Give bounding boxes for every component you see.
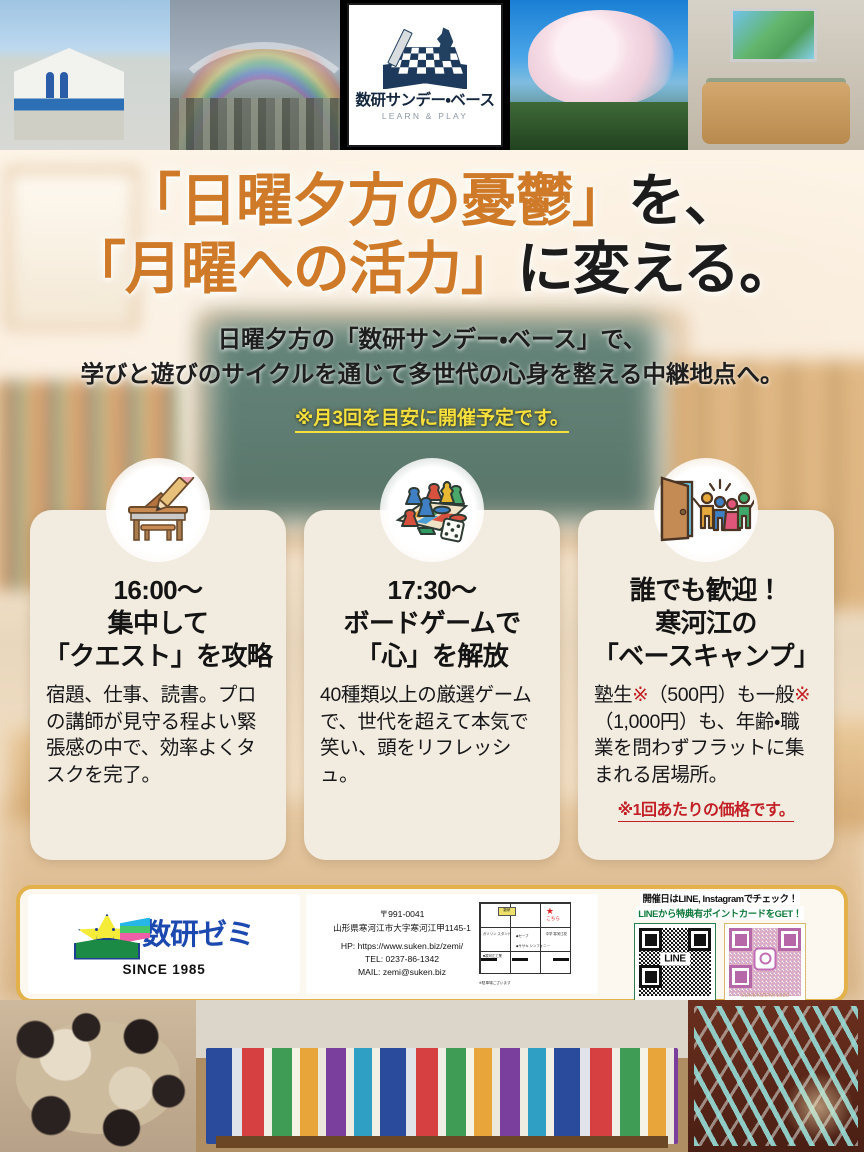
brand-logo-card: 数研サンデー・ベース LEARN & PLAY	[347, 3, 503, 147]
address-mail[interactable]: MAIL: zemi@suken.biz	[358, 967, 446, 977]
card-time-boardgame: 17:30～	[388, 575, 477, 605]
card-title-line1-quest: 集中して	[108, 608, 209, 638]
instagram-icon	[754, 947, 777, 970]
brand-logo-photo: 数研サンデー・ベース LEARN & PLAY	[340, 0, 510, 150]
game-board-closeup-photo	[688, 1000, 864, 1152]
qr-section: 開催日はLINE, Instagramでチェック！ LINEから特典有ポイントカ…	[604, 891, 836, 997]
qr-headline-primary: 開催日はLINE, Instagramでチェック！	[640, 891, 799, 905]
bottom-photo-strip	[0, 1000, 864, 1152]
footer-info-panel: 数研ゼミ SINCE 1985 〒991-0041 山形県寒河江市大字寒河江甲1…	[16, 885, 848, 1000]
card-body-part2: （500円）も一般	[648, 684, 794, 706]
card-body-mark2: ※	[794, 684, 810, 706]
map-landmark-1: ガソリン スタンド	[483, 933, 511, 937]
card-title-boardgame: 17:30～ ボードゲームで 「心」を解放	[316, 574, 548, 672]
hero-title-line1-quoted: 「日曜夕方の憂鬱」	[124, 169, 628, 233]
card-title-welcome: 誰でも歓迎！ 寒河江の 「ベースキャンプ」	[590, 574, 822, 672]
qr-headline-secondary: LINEから特典有ポイントカードをGET！	[636, 906, 803, 920]
zemi-brand-logo: 数研ゼミ SINCE 1985	[28, 894, 300, 994]
line-qr-label: LINE	[660, 952, 690, 965]
chess-book-pencil-icon	[379, 29, 471, 91]
map-here-label: こちら	[546, 916, 560, 922]
board-game-shelf-photo	[196, 1000, 688, 1152]
zemi-since-label: SINCE 1985	[122, 962, 205, 977]
card-title-line1-welcome: 寒河江の	[655, 608, 757, 638]
brand-logo-title: 数研サンデー・ベース	[356, 92, 495, 109]
card-title-line2-quest: 「クエスト」を攻略	[44, 641, 273, 671]
hero-title-line1-tail: を、	[628, 169, 740, 233]
program-cards: 16:00～ 集中して 「クエスト」を攻略 宿題、仕事、読書。プロの講師が見守る…	[0, 510, 864, 860]
card-title-line1-boardgame: ボードゲームで	[343, 608, 520, 638]
card-body-part1: 塾生	[594, 684, 632, 706]
card-title-line2-boardgame: 「心」を解放	[356, 641, 508, 671]
card-title-line2-welcome: 「ベースキャンプ」	[593, 641, 820, 671]
kids-playing-game-photo	[0, 1000, 196, 1152]
hero-schedule-note: ※月3回を目安に開催予定です。	[295, 403, 569, 433]
program-card-quest[interactable]: 16:00～ 集中して 「クエスト」を攻略 宿題、仕事、読書。プロの講師が見守る…	[30, 510, 286, 860]
rainbow-townscape-photo	[170, 0, 340, 150]
map-landmark-3: 中学 寒河江校	[546, 933, 567, 937]
zemi-brand-name: 数研ゼミ	[142, 921, 254, 950]
card-time-welcome: 誰でも歓迎！	[630, 575, 782, 605]
hero-subtitle: 日曜夕方の「数研サンデー・ベース」で、 学びと遊びのサイクルを通じて多世代の心身…	[0, 322, 864, 393]
top-photo-strip: 数研サンデー・ベース LEARN & PLAY	[0, 0, 864, 150]
instagram-handle: SUKENZEMI1985	[725, 993, 805, 999]
map-box-label: 数研	[498, 907, 516, 916]
cherry-blossom-photo	[510, 0, 688, 150]
map-landmark-2: ◆セーブ	[516, 935, 529, 939]
flyer-page: 数研サンデー・ベース LEARN & PLAY 「日曜夕方の憂鬱」を、 「月曜へ…	[0, 0, 864, 1152]
address-text: 〒991-0041 山形県寒河江市大字寒河江甲1145-1 HP: https:…	[333, 908, 471, 980]
open-door-people-icon	[654, 458, 758, 562]
school-desk-pencil-icon	[106, 458, 210, 562]
hero-subtitle-line2: 学びと遊びのサイクルを通じて多世代の心身を整える中継地点へ。	[80, 361, 783, 387]
address-tel[interactable]: TEL: 0237-86-1342	[365, 954, 439, 964]
program-card-welcome[interactable]: 誰でも歓迎！ 寒河江の 「ベースキャンプ」 塾生※（500円）も一般※（1,00…	[578, 510, 834, 860]
card-body-part3: （1,000円）も、年齢・職業を問わずフラットに集まれる居場所。	[594, 711, 804, 786]
map-landmark-4: ◆ササキ シンフォニー	[516, 945, 550, 949]
line-qr-code[interactable]: LINE	[634, 923, 716, 1000]
address-block: 〒991-0041 山形県寒河江市大字寒河江甲1145-1 HP: https:…	[306, 894, 598, 994]
hero-section: 「日曜夕方の憂鬱」を、 「月曜への活力」に変える。 日曜夕方の「数研サンデー・ベ…	[0, 150, 864, 433]
location-map[interactable]: 数研 ★ こちら ガソリン スタンド ◆セーブ 中学 寒河江校 ◆ササキ シンフ…	[479, 902, 571, 986]
hero-title-line2-quoted: 「月曜への活力」	[69, 237, 517, 301]
card-body-welcome: 塾生※（500円）も一般※（1,000円）も、年齢・職業を問わずフラットに集まれ…	[590, 682, 822, 788]
address-postal: 〒991-0041	[380, 909, 425, 919]
program-card-boardgame[interactable]: 17:30～ ボードゲームで 「心」を解放 40種類以上の厳選ゲームで、世代を超…	[304, 510, 560, 860]
address-hp[interactable]: HP: https://www.suken.biz/zemi/	[341, 941, 463, 951]
hero-subtitle-line1: 日曜夕方の「数研サンデー・ベース」で、	[218, 326, 647, 352]
card-title-quest: 16:00～ 集中して 「クエスト」を攻略	[42, 574, 274, 672]
map-caption: ※駐車場ございます	[479, 981, 511, 986]
card-body-quest: 宿題、仕事、読書。プロの講師が見守る程よい緊張感の中で、効率よくタスクを完了。	[42, 682, 274, 788]
school-building-photo	[0, 0, 170, 150]
card-body-mark1: ※	[632, 684, 648, 706]
smiling-star-book-mascot-icon	[74, 912, 136, 960]
address-line1: 山形県寒河江市大字寒河江甲1145-1	[333, 923, 471, 933]
main-content: 「日曜夕方の憂鬱」を、 「月曜への活力」に変える。 日曜夕方の「数研サンデー・ベ…	[0, 150, 864, 1000]
brand-logo-tagline: LEARN & PLAY	[382, 111, 468, 121]
board-game-dice-icon	[380, 458, 484, 562]
card-price-footnote: ※1回あたりの価格です。	[618, 796, 795, 822]
card-body-boardgame: 40種類以上の厳選ゲームで、世代を超えて本気で笑い、頭をリフレッシュ。	[316, 682, 548, 788]
page-title: 「日曜夕方の憂鬱」を、 「月曜への活力」に変える。	[0, 168, 864, 302]
hero-title-line2-tail: に変える。	[517, 237, 795, 301]
classroom-activity-photo	[688, 0, 864, 150]
card-time-quest: 16:00～	[114, 575, 203, 605]
instagram-qr-code[interactable]: SUKENZEMI1985	[724, 923, 806, 1000]
